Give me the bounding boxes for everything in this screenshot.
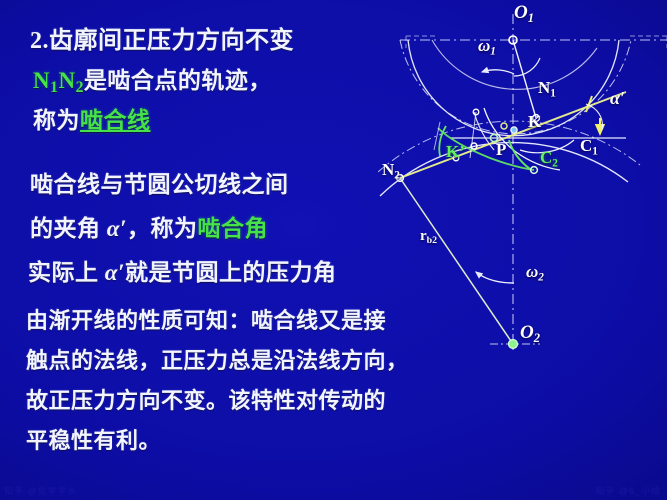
- symbol-alpha-prime-1: α′: [107, 216, 127, 241]
- gear-meshing-diagram: O1 ω1 N1 K P K’ C1 C2 α′ N2 rb2 ω2 O2: [378, 0, 667, 380]
- diagram-label-c2: C2: [540, 148, 558, 169]
- slide-title: 2.齿廓间正压力方向不变: [30, 20, 294, 55]
- text-line-2-rest: 是啮合点的轨迹，: [84, 68, 272, 93]
- diagram-label-n2: N2: [382, 160, 400, 181]
- text-line-9: 故正压力方向不变。该特性对传动的: [26, 383, 386, 415]
- diagram-label-p: P: [496, 140, 506, 160]
- diagram-label-n1: N1: [538, 78, 556, 99]
- diagram-label-omega2: ω2: [526, 262, 544, 283]
- text-line-5-prefix: 的夹角: [30, 216, 107, 241]
- text-line-5-mid: ，称为: [127, 216, 198, 241]
- diagram-label-k: K: [528, 112, 541, 132]
- text-line-3-prefix: 称为: [33, 108, 80, 133]
- term-meshing-angle: 啮合角: [197, 216, 268, 241]
- slide-canvas: 2.齿廓间正压力方向不变 N1N2是啮合点的轨迹， 称为啮合线 啮合线与节圆公切…: [0, 0, 667, 500]
- node-k: [511, 127, 517, 133]
- text-line-4: 啮合线与节圆公切线之间: [30, 165, 289, 199]
- diagram-label-rb2: rb2: [420, 228, 437, 246]
- diagram-label-omega1: ω1: [478, 36, 496, 57]
- omega1-arc: [514, 58, 540, 76]
- node-o2: [509, 340, 518, 349]
- watermark-right: 知乎 @6_小绘: [595, 484, 661, 497]
- radius-rb1: [513, 40, 536, 118]
- omega1-arrow: [482, 70, 514, 74]
- node-tangent-left: [501, 123, 507, 129]
- diagram-label-k-prime: K’: [446, 142, 465, 162]
- text-line-6-rest: 就是节圆上的压力角: [125, 260, 337, 285]
- symbol-alpha-prime-2: α′: [105, 260, 125, 285]
- diagram-label-o1: O1: [514, 2, 534, 26]
- watermark-left: 知乎 @化学学长: [4, 484, 78, 497]
- text-line-7: 由渐开线的性质可知：啮合线又是接: [26, 303, 386, 335]
- diagram-label-o2: O2: [520, 322, 540, 346]
- omega2-arrow: [476, 272, 514, 283]
- text-line-5: 的夹角 α′，称为啮合角: [30, 209, 268, 243]
- text-line-8: 触点的法线，正压力总是沿法线方向，: [26, 343, 409, 375]
- radius-rb2: [400, 178, 513, 344]
- diagram-label-c1: C1: [580, 136, 598, 157]
- text-line-3: 称为啮合线: [33, 101, 151, 135]
- text-column: 2.齿廓间正压力方向不变 N1N2是啮合点的轨迹， 称为啮合线 啮合线与节圆公切…: [0, 0, 400, 470]
- label-N2: N2: [58, 68, 83, 93]
- text-line-10: 平稳性有利。: [26, 423, 161, 455]
- diagram-label-alpha-prime: α′: [610, 88, 625, 109]
- text-line-6-prefix: 实际上: [28, 260, 105, 285]
- base-circle-upper: [400, 40, 631, 134]
- term-meshing-line: 啮合线: [80, 108, 151, 133]
- addendum-construction-upper: [406, 36, 667, 48]
- text-line-6: 实际上 α′就是节圆上的压力角: [28, 253, 336, 287]
- text-line-2: N1N2是啮合点的轨迹，: [33, 61, 272, 97]
- label-N1: N1: [33, 68, 58, 93]
